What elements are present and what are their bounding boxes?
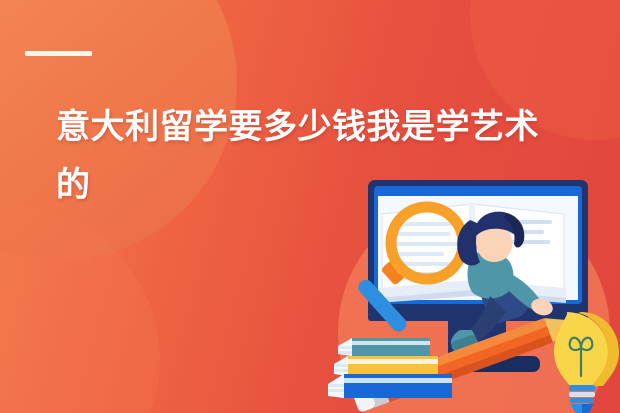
book-stack	[328, 338, 452, 398]
page-title: 意大利留学要多少钱我是学艺术的	[56, 98, 566, 214]
decorative-rule	[25, 51, 92, 56]
promo-banner: 意大利留学要多少钱我是学艺术的	[0, 0, 620, 413]
lightbulb-icon	[554, 312, 619, 413]
